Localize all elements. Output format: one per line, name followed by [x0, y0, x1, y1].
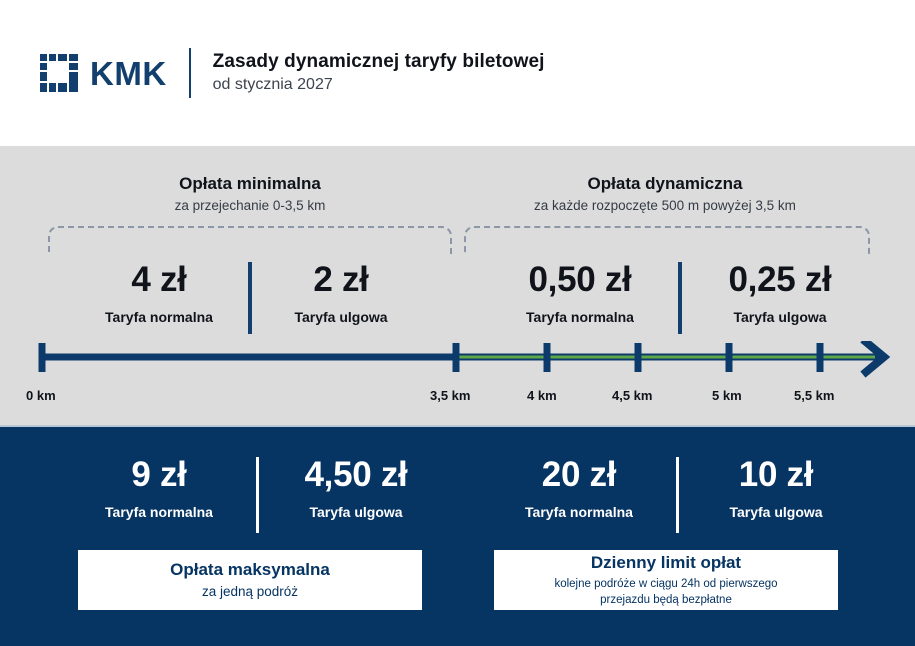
header: KMK Zasady dynamicznej taryfy biletowej …: [0, 0, 915, 146]
fare-value: 2 zł: [313, 262, 368, 297]
info-box-subtitle: za jedną podróż: [202, 583, 298, 601]
fare-cell: 9 zł Taryfa normalna: [84, 457, 234, 533]
gray-section: Opłata minimalna za przejechanie 0-3,5 k…: [0, 146, 915, 425]
dashed-bracket-minimal: [48, 226, 452, 254]
fare-divider: [676, 457, 679, 533]
axis-tick-label: 5 km: [712, 388, 742, 403]
fare-label: Taryfa ulgowa: [294, 309, 387, 325]
fare-value: 9 zł: [131, 457, 186, 492]
fare-value: 4 zł: [131, 262, 186, 297]
section-subtitle: za każde rozpoczęte 500 m powyżej 3,5 km: [462, 197, 868, 215]
fare-label: Taryfa ulgowa: [733, 309, 826, 325]
infographic-page: KMK Zasady dynamicznej taryfy biletowej …: [0, 0, 915, 646]
fare-group-daily-limit: 20 zł Taryfa normalna 10 zł Taryfa ulgow…: [504, 457, 851, 533]
brand-divider: [189, 48, 191, 98]
fare-group-dynamic: 0,50 zł Taryfa normalna 0,25 zł Taryfa u…: [500, 262, 860, 334]
fare-value: 4,50 zł: [305, 457, 408, 492]
page-title: Zasady dynamicznej taryfy biletowej: [213, 50, 545, 74]
axis-tick-label: 3,5 km: [430, 388, 470, 403]
info-box-subtitle-line2: przejazdu będą bezpłatne: [600, 592, 732, 608]
fare-divider: [678, 262, 682, 334]
axis-tick-label: 0 km: [26, 388, 56, 403]
fare-value: 20 zł: [542, 457, 616, 492]
section-head-dynamic: Opłata dynamiczna za każde rozpoczęte 50…: [462, 174, 868, 215]
fare-divider: [248, 262, 252, 334]
fare-label: Taryfa ulgowa: [309, 504, 402, 520]
title-block: Zasady dynamicznej taryfy biletowej od s…: [213, 50, 545, 97]
section-head-minimal: Opłata minimalna za przejechanie 0-3,5 k…: [48, 174, 452, 215]
navy-section: 9 zł Taryfa normalna 4,50 zł Taryfa ulgo…: [0, 425, 915, 646]
fare-value: 0,25 zł: [729, 262, 832, 297]
fare-cell: 20 zł Taryfa normalna: [504, 457, 654, 533]
info-box-title: Opłata maksymalna: [170, 559, 330, 580]
fare-group-max: 9 zł Taryfa normalna 4,50 zł Taryfa ulgo…: [84, 457, 431, 533]
info-box-max-fare: Opłata maksymalna za jedną podróż: [78, 550, 422, 610]
fare-cell: 0,25 zł Taryfa ulgowa: [700, 262, 860, 334]
fare-cell: 2 zł Taryfa ulgowa: [270, 262, 412, 334]
dashed-bracket-dynamic: [464, 226, 870, 254]
kmk-square-ring-logo-icon: [40, 54, 78, 92]
fare-cell: 10 zł Taryfa ulgowa: [701, 457, 851, 533]
fare-cell: 4,50 zł Taryfa ulgowa: [281, 457, 431, 533]
fare-value: 0,50 zł: [529, 262, 632, 297]
logo-wordmark: KMK: [90, 57, 167, 90]
section-subtitle: za przejechanie 0-3,5 km: [48, 197, 452, 215]
fare-value: 10 zł: [739, 457, 813, 492]
brand-block: KMK Zasady dynamicznej taryfy biletowej …: [40, 48, 545, 98]
axis-tick-label: 5,5 km: [794, 388, 834, 403]
info-box-title: Dzienny limit opłat: [591, 552, 741, 573]
section-divider-rule: [0, 425, 915, 427]
section-title: Opłata dynamiczna: [462, 174, 868, 194]
info-box-subtitle: kolejne podróże w ciągu 24h od pierwszeg…: [554, 576, 777, 592]
page-subtitle: od stycznia 2027: [213, 75, 545, 96]
fare-group-minimal: 4 zł Taryfa normalna 2 zł Taryfa ulgowa: [88, 262, 412, 334]
section-title: Opłata minimalna: [48, 174, 452, 194]
axis-tick-label: 4,5 km: [612, 388, 652, 403]
axis-tick-label: 4 km: [527, 388, 557, 403]
fare-label: Taryfa ulgowa: [729, 504, 822, 520]
fare-cell: 4 zł Taryfa normalna: [88, 262, 230, 334]
fare-cell: 0,50 zł Taryfa normalna: [500, 262, 660, 334]
fare-divider: [256, 457, 259, 533]
fare-label: Taryfa normalna: [105, 309, 213, 325]
fare-label: Taryfa normalna: [526, 309, 634, 325]
fare-label: Taryfa normalna: [105, 504, 213, 520]
fare-label: Taryfa normalna: [525, 504, 633, 520]
info-box-daily-limit: Dzienny limit opłat kolejne podróże w ci…: [494, 550, 838, 610]
